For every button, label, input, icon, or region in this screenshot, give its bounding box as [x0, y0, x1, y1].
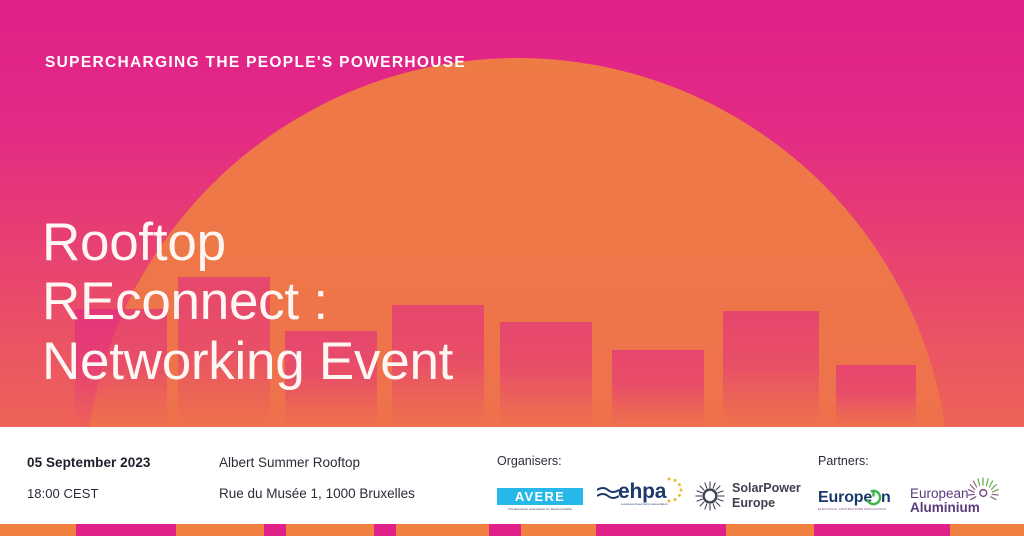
european-aluminium-logo[interactable]: European Aluminium: [910, 477, 1000, 515]
partners-logo-row: Europe n ELECTRICAL CONTRACTORS ASSOCIAT…: [818, 477, 1000, 515]
spe-line-2: Europe: [732, 496, 801, 511]
ehpa-logo[interactable]: ehpa european heat pump association: [597, 477, 681, 511]
event-banner: SUPERCHARGING THE PEOPLE'S POWERHOUSE Ro…: [0, 0, 1024, 536]
building-silhouette: [723, 311, 819, 427]
avere-wordmark: AVERE: [515, 489, 565, 504]
power-symbol-icon: [865, 489, 882, 506]
bottom-bar-segment: [814, 524, 950, 536]
event-date: 05 September 2023: [27, 455, 150, 470]
organisers-logo-row: AVERE The European Association for Elect…: [497, 477, 801, 511]
bottom-bar-segment: [76, 524, 176, 536]
building-silhouette: [612, 350, 704, 427]
bottom-bar-segment: [264, 524, 286, 536]
ea-line-1: European: [910, 486, 969, 501]
footer-section: 05 September 2023 18:00 CEST Albert Summ…: [0, 427, 1024, 524]
europeon-tagline: ELECTRICAL CONTRACTORS ASSOCIATION: [818, 507, 886, 511]
ehpa-tagline: european heat pump association: [621, 502, 668, 507]
venue-name: Albert Summer Rooftop: [219, 455, 415, 470]
event-datetime: 05 September 2023 18:00 CEST: [27, 455, 150, 501]
avere-wordmark-bar: AVERE: [497, 488, 583, 505]
avere-tagline: The European Association for Electromobi…: [497, 507, 583, 511]
sunburst-icon: [695, 481, 725, 511]
event-location: Albert Summer Rooftop Rue du Musée 1, 10…: [219, 455, 415, 501]
solarpower-europe-wordmark: SolarPower Europe: [732, 481, 801, 511]
solarpower-europe-logo[interactable]: SolarPower Europe: [695, 481, 801, 511]
europeon-logo[interactable]: Europe n ELECTRICAL CONTRACTORS ASSOCIAT…: [818, 485, 896, 515]
hero-section: SUPERCHARGING THE PEOPLE'S POWERHOUSE Ro…: [0, 0, 1024, 427]
decorative-bottom-bar: [0, 524, 1024, 536]
organisers-group: Organisers: AVERE The European Associati…: [497, 454, 801, 511]
europeon-suffix: n: [881, 489, 891, 507]
ehpa-eu-stars-icon: [655, 477, 683, 503]
building-silhouette: [836, 365, 916, 427]
event-time: 18:00 CEST: [27, 486, 150, 501]
aluminium-burst-icon: [967, 477, 1000, 507]
partners-group: Partners: Europe n ELECTRICAL CONTRACTOR…: [818, 454, 1000, 515]
page-title: Rooftop REconnect : Networking Event: [42, 213, 453, 391]
avere-logo[interactable]: AVERE The European Association for Elect…: [497, 488, 583, 511]
spe-line-1: SolarPower: [732, 481, 801, 496]
venue-address: Rue du Musée 1, 1000 Bruxelles: [219, 486, 415, 501]
bottom-bar-segment: [596, 524, 726, 536]
bottom-bar-segment: [489, 524, 521, 536]
tagline: SUPERCHARGING THE PEOPLE'S POWERHOUSE: [45, 54, 466, 72]
organisers-label: Organisers:: [497, 454, 801, 468]
bottom-bar-segment: [374, 524, 396, 536]
building-silhouette: [500, 322, 592, 427]
ehpa-wave-icon: [597, 486, 619, 500]
partners-label: Partners:: [818, 454, 1000, 468]
